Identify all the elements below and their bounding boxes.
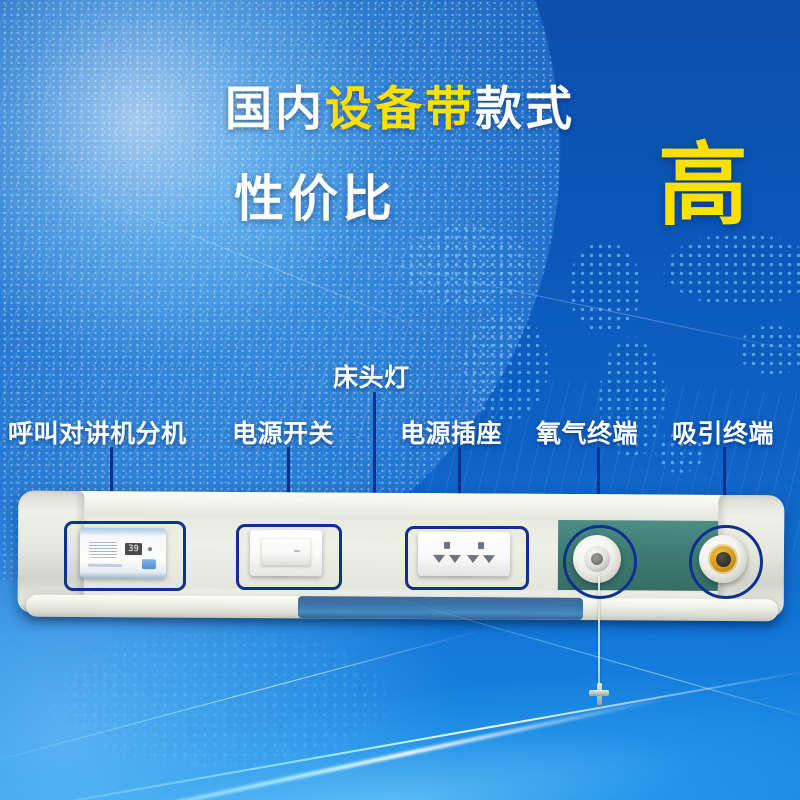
headline-line-2: 性价比 高 [0, 159, 800, 237]
callout-label-intercom: 呼叫对讲机分机 [8, 414, 187, 450]
highlight-box-power-socket [405, 526, 529, 590]
headline-part-yellow: 设备带 [325, 82, 475, 137]
headline-block: 国内设备带款式 性价比 高 [0, 86, 800, 237]
headline-accent-char: 高 [658, 141, 748, 231]
highlight-box-power-switch [236, 524, 342, 590]
callout-label-bed-lamp: 床头灯 [333, 358, 410, 394]
headline-part-white-a: 国内 [225, 82, 325, 137]
callout-label-power-socket: 电源插座 [400, 414, 502, 450]
callout-label-power-switch: 电源开关 [232, 414, 334, 450]
highlight-circle-suction [689, 525, 763, 599]
callout-label-suction: 吸引终端 [672, 414, 774, 450]
headline-line-1: 国内设备带款式 [0, 86, 800, 133]
callout-label-oxygen: 氧气终端 [536, 414, 638, 450]
panel-bottom-rail-accent [298, 596, 583, 620]
highlight-circle-oxygen [563, 525, 637, 599]
panel-highlight [18, 491, 784, 518]
headline-part-white-b: 款式 [475, 82, 575, 137]
product-banner: 国内设备带款式 性价比 高 呼叫对讲机分机 电源开关 床头灯 电源插座 氧气终端… [0, 0, 800, 800]
pull-cord-handle-icon[interactable] [589, 683, 609, 705]
highlight-box-intercom [64, 521, 186, 591]
